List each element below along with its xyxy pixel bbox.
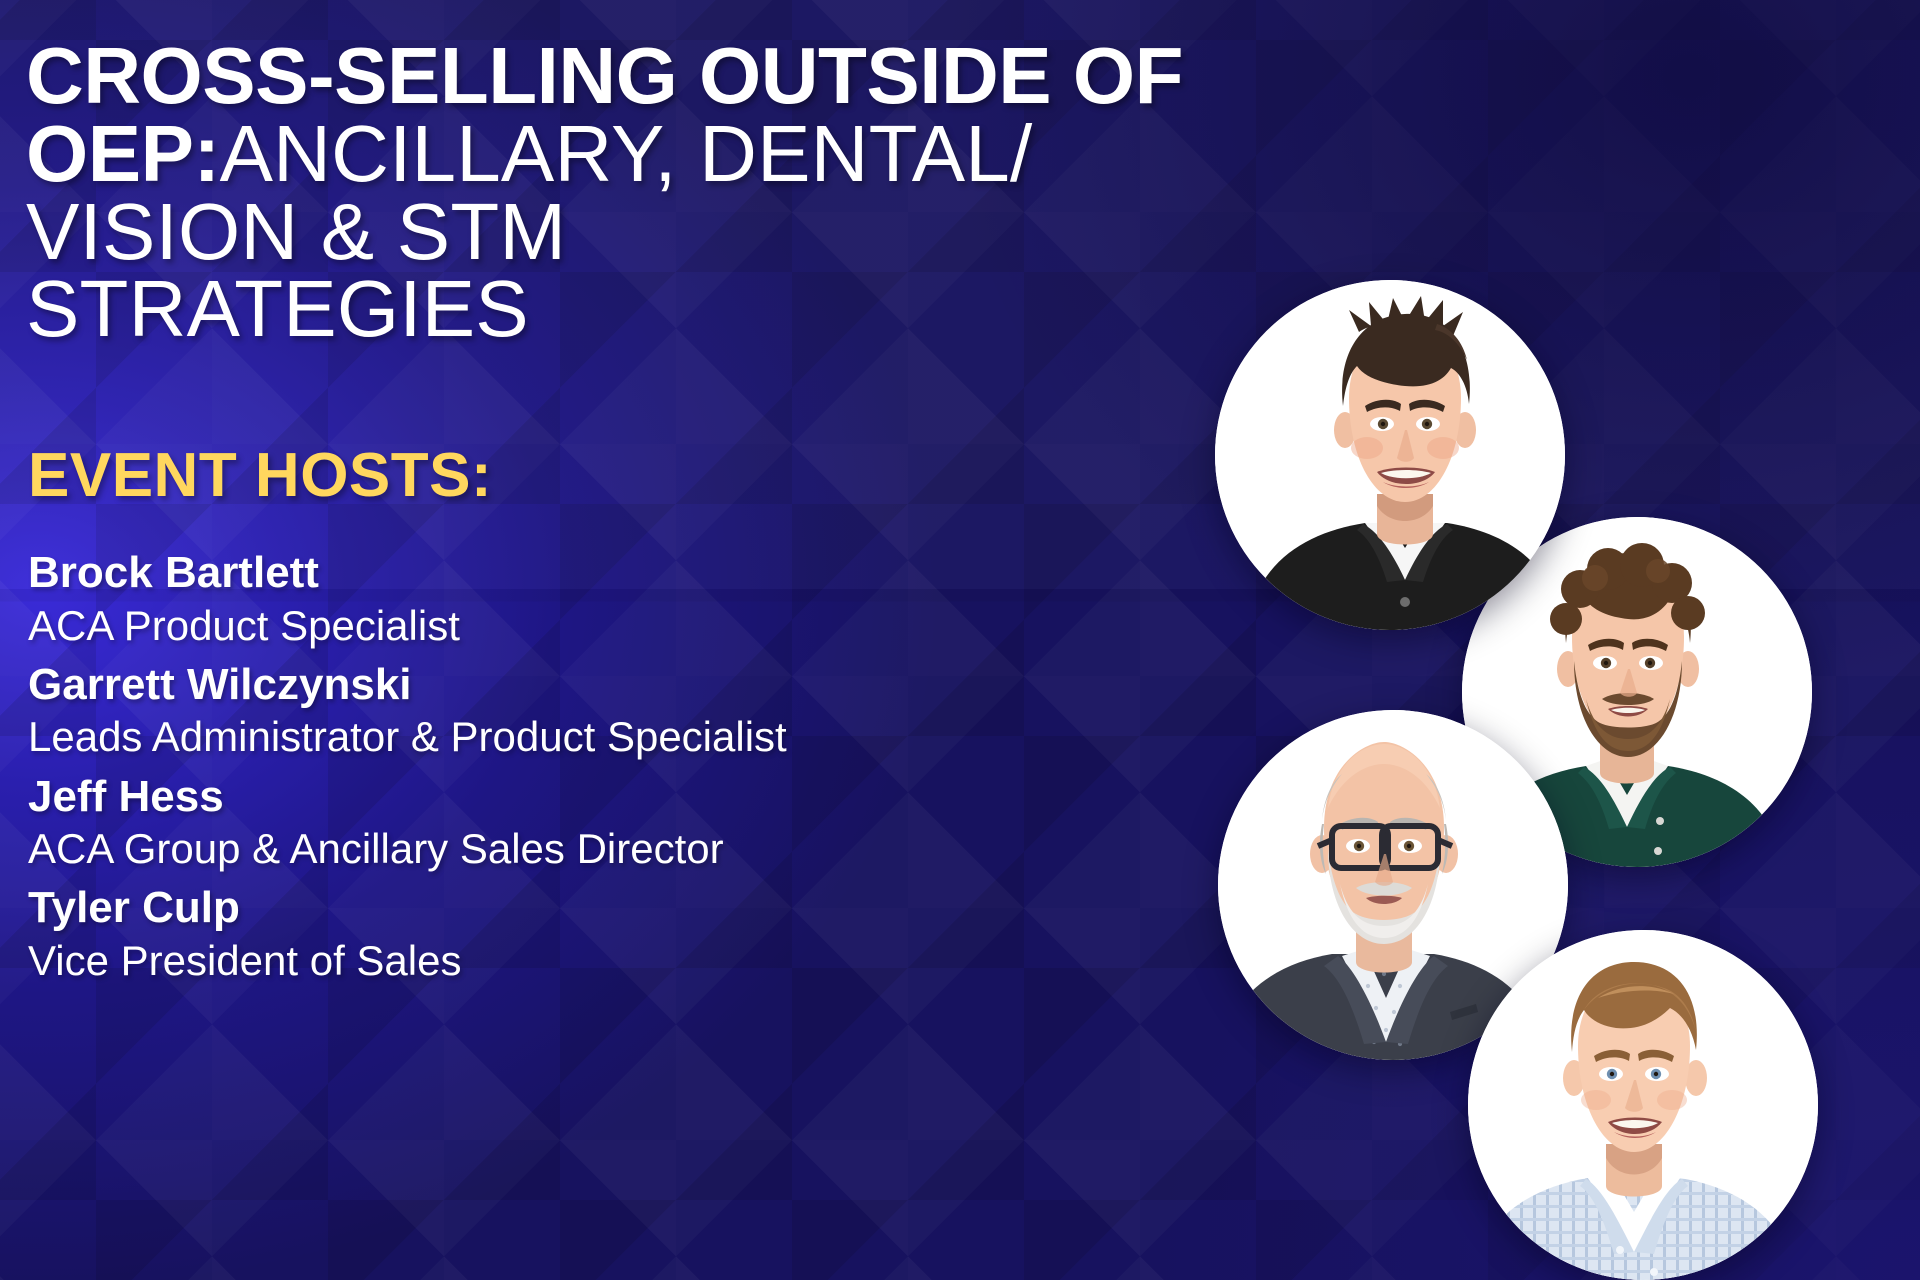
host-entry: Brock Bartlett ACA Product Specialist (28, 546, 1208, 652)
event-hosts-list: Brock Bartlett ACA Product Specialist Ga… (28, 546, 1208, 993)
page-title: CROSS-SELLING OUTSIDE OF OEP:ANCILLARY, … (26, 37, 1326, 347)
portrait-tyler-culp (1468, 930, 1818, 1280)
host-entry: Garrett Wilczynski Leads Administrator &… (28, 658, 1208, 764)
title-line-2-strong-text: OEP: (26, 109, 220, 198)
host-role: Vice President of Sales (28, 935, 1208, 987)
host-name: Jeff Hess (28, 770, 1208, 824)
title-line-4: STRATEGIES (26, 270, 1326, 348)
host-name: Brock Bartlett (28, 546, 1208, 600)
title-line-2-light-text: ANCILLARY, DENTAL/ (220, 109, 1033, 198)
title-line-3: VISION & STM (26, 193, 1326, 271)
portrait-tyler-culp-image (1468, 930, 1818, 1280)
portrait-brock-bartlett-image (1215, 280, 1565, 630)
host-entry: Tyler Culp Vice President of Sales (28, 881, 1208, 987)
portrait-brock-bartlett (1215, 280, 1565, 630)
title-line-1-text: CROSS-SELLING OUTSIDE OF (26, 31, 1183, 120)
host-name: Tyler Culp (28, 881, 1208, 935)
host-entry: Jeff Hess ACA Group & Ancillary Sales Di… (28, 770, 1208, 876)
webinar-promo-poster: CROSS-SELLING OUTSIDE OF OEP:ANCILLARY, … (0, 0, 1920, 1280)
title-line-1: CROSS-SELLING OUTSIDE OF (26, 37, 1326, 115)
host-role: ACA Group & Ancillary Sales Director (28, 823, 1208, 875)
host-role: Leads Administrator & Product Specialist (28, 711, 1208, 763)
event-hosts-heading: EVENT HOSTS: (28, 440, 492, 511)
host-role: ACA Product Specialist (28, 600, 1208, 652)
title-line-2: OEP:ANCILLARY, DENTAL/ (26, 115, 1326, 193)
host-name: Garrett Wilczynski (28, 658, 1208, 712)
